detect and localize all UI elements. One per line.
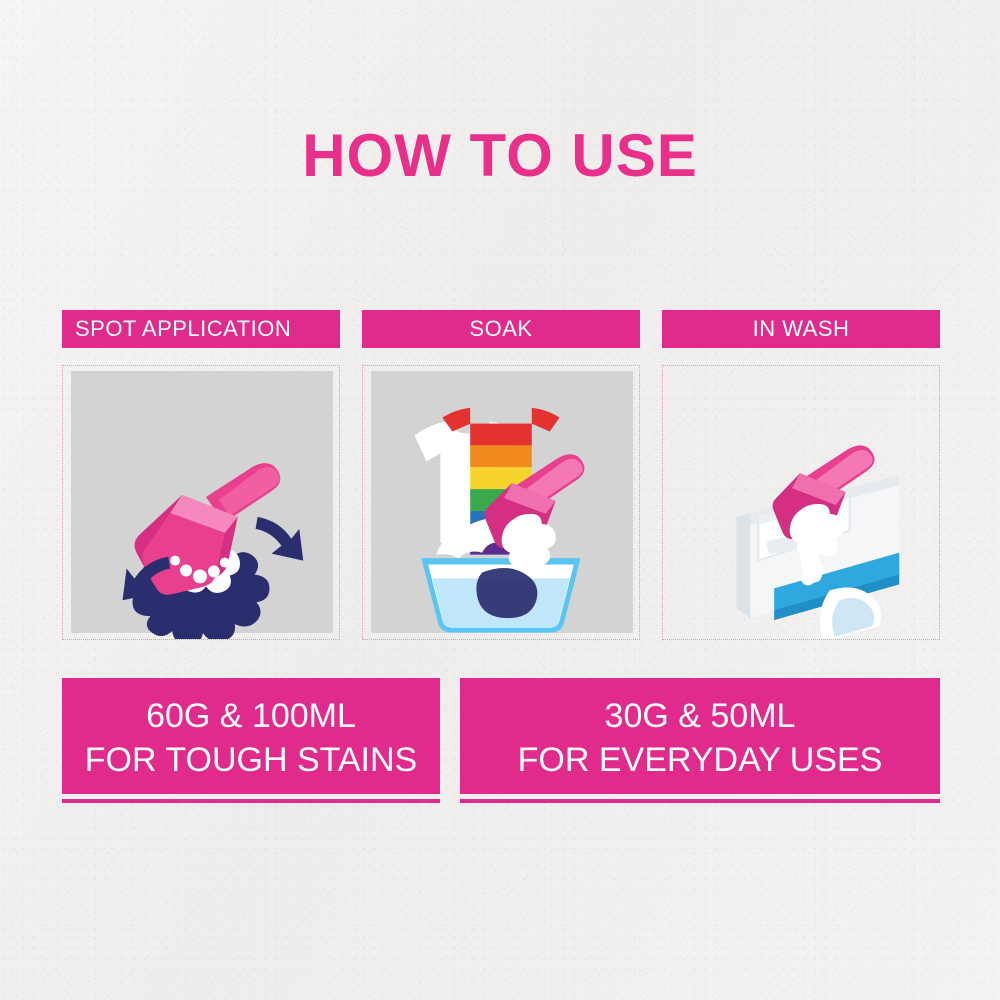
- banner-everyday-uses-line1: 30G & 50ML: [605, 697, 796, 735]
- banner-tough-stains-line2: FOR TOUGH STAINS: [62, 739, 440, 783]
- banner-everyday-uses-line2: FOR EVERYDAY USES: [460, 739, 940, 783]
- banner-tough-stains: 60G & 100ML FOR TOUGH STAINS: [62, 678, 440, 794]
- step-image-in-wash: [662, 365, 940, 640]
- banner-tough-stains-line1: 60G & 100ML: [146, 697, 356, 735]
- banner-tough-stains-underline: [62, 799, 440, 803]
- banner-everyday-uses: 30G & 50ML FOR EVERYDAY USES: [460, 678, 940, 794]
- steps-row: SPOT APPLICATION: [62, 310, 940, 645]
- banner-everyday-uses-underline: [460, 799, 940, 803]
- step-image-spot-application: [62, 365, 340, 640]
- step-image-soak: [362, 365, 640, 640]
- basin-soak-with-rainbow-shirt-icon: [363, 366, 639, 639]
- how-to-use-infographic: HOW TO USE SPOT APPLICATION: [0, 0, 1000, 1000]
- step-in-wash: IN WASH: [662, 310, 940, 645]
- step-label-soak: SOAK: [362, 310, 640, 348]
- washing-machine-drawer-icon: [663, 366, 939, 639]
- step-label-spot-application: SPOT APPLICATION: [62, 310, 340, 348]
- step-spot-application: SPOT APPLICATION: [62, 310, 340, 645]
- page-title: HOW TO USE: [0, 121, 1000, 190]
- scoop-pouring-on-stain-icon: [63, 366, 339, 639]
- step-label-in-wash: IN WASH: [662, 310, 940, 348]
- step-soak: SOAK: [362, 310, 640, 645]
